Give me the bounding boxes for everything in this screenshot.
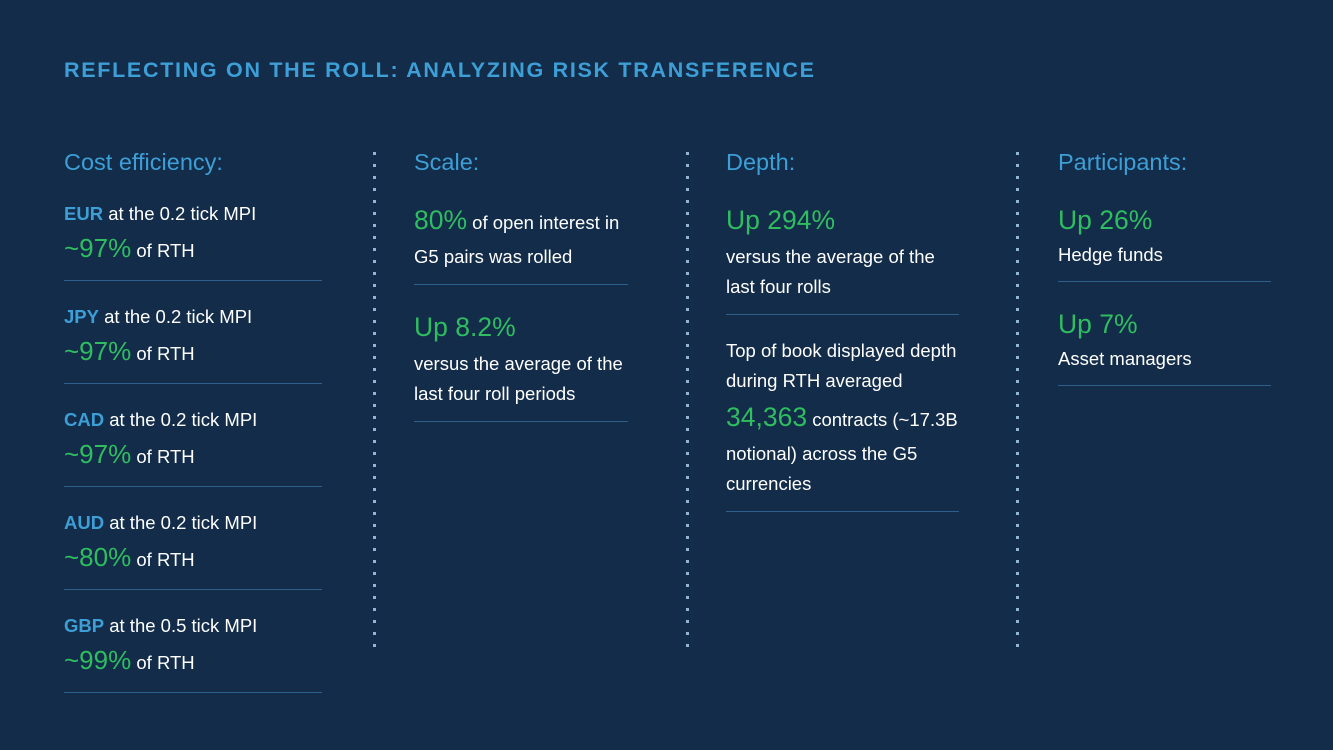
currency-code: CAD [64, 409, 104, 430]
stat-item-line2: of RTH [131, 446, 194, 467]
stat-value: 80% [414, 205, 467, 235]
stat-value: Up 7% [1058, 309, 1138, 339]
stat-item-line2: of RTH [131, 343, 194, 364]
column-heading: Cost efficiency: [64, 148, 322, 176]
stat-value: ~97% [64, 336, 131, 366]
stat-item: Up 7% Asset managers [1058, 303, 1271, 386]
stat-item-text: Up 26% Hedge funds [1058, 199, 1271, 269]
stat-value: ~80% [64, 542, 131, 572]
stat-item-label: Asset managers [1058, 346, 1271, 373]
stat-item: JPY at the 0.2 tick MPI ~97% of RTH [64, 302, 322, 384]
column-cost-efficiency: Cost efficiency: EUR at the 0.2 tick MPI… [64, 148, 322, 693]
stat-item-body: versus the average of the last four roll… [726, 246, 935, 297]
column-heading: Depth: [726, 148, 959, 176]
stat-item-text: GBP at the 0.5 tick MPI ~99% of RTH [64, 611, 322, 680]
column-heading: Participants: [1058, 148, 1271, 176]
page-title: Reflecting on the roll: Analyzing risk t… [64, 58, 816, 83]
stat-value: 34,363 [726, 402, 807, 432]
stat-item-text: Up 8.2% versus the average of the last f… [414, 306, 628, 409]
column-heading: Scale: [414, 148, 628, 176]
stat-item: Up 8.2% versus the average of the last f… [414, 306, 628, 422]
stat-value: ~97% [64, 439, 131, 469]
stat-item: Up 26% Hedge funds [1058, 199, 1271, 282]
stat-item-text: Top of book displayed depth during RTH a… [726, 336, 959, 499]
stat-item-body: versus the average of the last four roll… [414, 353, 623, 404]
stat-item-text: Up 294% versus the average of the last f… [726, 199, 959, 302]
stat-item-line1: at the 0.2 tick MPI [99, 306, 252, 327]
stat-value: ~99% [64, 645, 131, 675]
stat-item-text: EUR at the 0.2 tick MPI ~97% of RTH [64, 199, 322, 268]
column-scale: Scale: 80% of open interest in G5 pairs … [414, 148, 628, 422]
stat-item: AUD at the 0.2 tick MPI ~80% of RTH [64, 508, 322, 590]
currency-code: AUD [64, 512, 104, 533]
stat-item-line1: at the 0.2 tick MPI [104, 409, 257, 430]
stat-item-line2: of RTH [131, 549, 194, 570]
stat-item-text: JPY at the 0.2 tick MPI ~97% of RTH [64, 302, 322, 371]
stat-item-text: 80% of open interest in G5 pairs was rol… [414, 199, 628, 272]
stat-item-text: CAD at the 0.2 tick MPI ~97% of RTH [64, 405, 322, 474]
stat-item-text: AUD at the 0.2 tick MPI ~80% of RTH [64, 508, 322, 577]
stat-value: Up 8.2% [414, 312, 516, 342]
stat-item-line1: at the 0.5 tick MPI [104, 615, 257, 636]
column-depth: Depth: Up 294% versus the average of the… [726, 148, 959, 512]
currency-code: EUR [64, 203, 103, 224]
slide-canvas: Reflecting on the roll: Analyzing risk t… [0, 0, 1333, 750]
currency-code: JPY [64, 306, 99, 327]
stat-value: Up 294% [726, 205, 835, 235]
currency-code: GBP [64, 615, 104, 636]
columns-container: Cost efficiency: EUR at the 0.2 tick MPI… [0, 148, 1333, 668]
stat-item: GBP at the 0.5 tick MPI ~99% of RTH [64, 611, 322, 693]
stat-item-line1: at the 0.2 tick MPI [104, 512, 257, 533]
stat-item-line2: of RTH [131, 240, 194, 261]
stat-item-line2: of RTH [131, 652, 194, 673]
stat-item-text: Up 7% Asset managers [1058, 303, 1271, 373]
stat-item: Top of book displayed depth during RTH a… [726, 336, 959, 512]
stat-item: EUR at the 0.2 tick MPI ~97% of RTH [64, 199, 322, 281]
stat-item-line1: at the 0.2 tick MPI [103, 203, 256, 224]
stat-value: ~97% [64, 233, 131, 263]
stat-item: 80% of open interest in G5 pairs was rol… [414, 199, 628, 285]
stat-item: CAD at the 0.2 tick MPI ~97% of RTH [64, 405, 322, 487]
stat-value: Up 26% [1058, 205, 1152, 235]
stat-item-label: Hedge funds [1058, 242, 1271, 269]
stat-item-lead: Top of book displayed depth during RTH a… [726, 340, 956, 391]
stat-item: Up 294% versus the average of the last f… [726, 199, 959, 315]
column-participants: Participants: Up 26% Hedge funds Up 7% A… [1058, 148, 1271, 386]
